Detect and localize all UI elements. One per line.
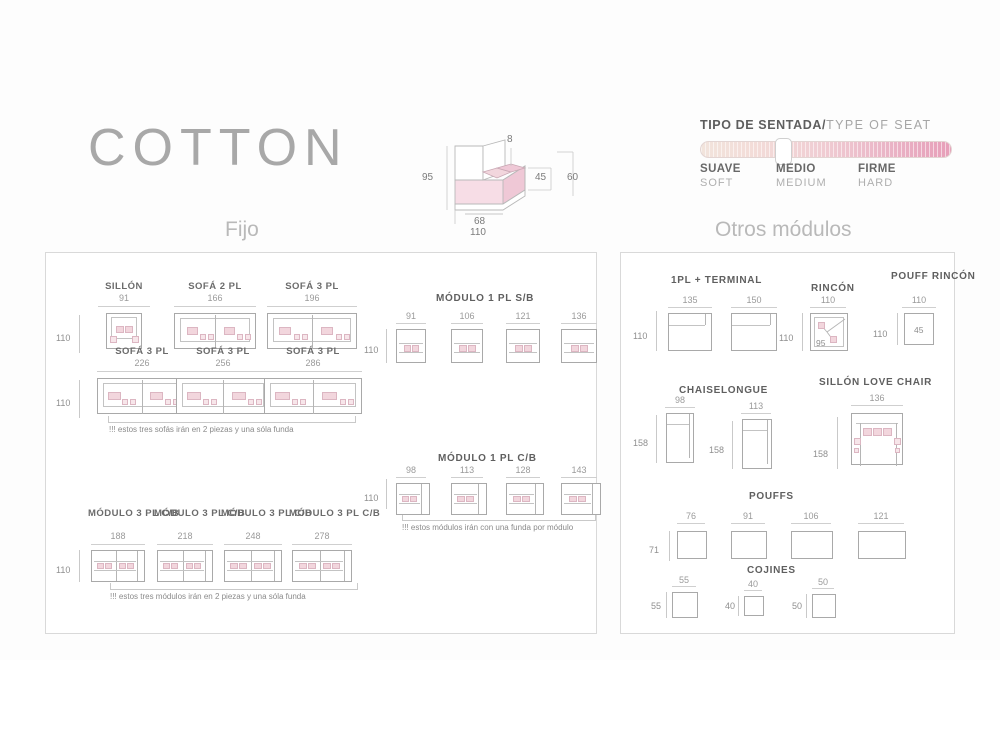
pouff-rincon-inner-dim: 45: [914, 325, 923, 335]
corner-cushion: [818, 322, 825, 329]
modulo3pl-brace: [110, 583, 358, 590]
seat-line: [399, 352, 423, 353]
back-cushion: [224, 327, 235, 335]
arm-pillow: [894, 438, 901, 445]
back-cushion: [332, 563, 340, 569]
pouffs-depth-label: 71: [649, 545, 659, 555]
back-cushion: [194, 563, 201, 569]
back-cushion: [468, 345, 476, 352]
back-cushion: [402, 496, 409, 502]
back-cushion: [171, 563, 178, 569]
seat-line: [454, 503, 477, 504]
row2-brace: [108, 416, 356, 423]
item-label: SILLÓN: [94, 281, 154, 292]
width-line: [98, 306, 150, 307]
width-line: [858, 523, 904, 524]
item-width: 166: [171, 293, 259, 303]
plan-view: [858, 531, 906, 559]
seat-divider: [142, 380, 143, 414]
back-divider: [137, 551, 138, 581]
page-title: COTTON: [88, 118, 349, 178]
back-divider: [421, 484, 422, 514]
pouff-rincon-depth-label: 110: [873, 329, 887, 339]
arm-pillow: [854, 438, 861, 445]
width-line: [224, 544, 282, 545]
perspective-drawing: 95 8 45 60 68 110: [425, 128, 585, 233]
item-label: MÓDULO 3 PL C/B: [154, 508, 216, 519]
arm-pillow: [237, 334, 243, 340]
item-width: 113: [739, 401, 773, 411]
arm-pillow: [211, 399, 217, 405]
arm-pillow: [344, 334, 350, 340]
plan-view: [672, 592, 698, 618]
modulo-1pl-sb-title: MÓDULO 1 PL S/B: [436, 293, 534, 304]
item-label: SOFÁ 3 PL: [173, 346, 273, 357]
plan-view: [668, 313, 712, 351]
back-cushion: [299, 563, 307, 569]
plan-view: [176, 378, 270, 414]
back-cushion: [457, 496, 465, 502]
width-line: [812, 588, 834, 589]
back-cushion: [466, 496, 474, 502]
modulo-cb-brace: [402, 515, 596, 521]
width-line: [672, 586, 696, 587]
row1-depth-line: [79, 315, 80, 353]
item-width: 106: [449, 311, 485, 321]
pouffs-depth-line: [669, 531, 670, 561]
width-line: [677, 523, 705, 524]
arm-divider: [767, 420, 768, 464]
back-cushion: [125, 326, 133, 333]
rincon-depth-label: 110: [779, 333, 793, 343]
seat-line: [227, 570, 273, 571]
width-line: [731, 307, 777, 308]
plan-view: [224, 550, 282, 582]
love-chair-title: SILLÓN LOVE CHAIR: [819, 377, 932, 388]
seat-type-heading-es: TIPO DE SENTADA: [700, 118, 822, 132]
seat-line: [564, 494, 591, 495]
seat-type-heading-en: TYPE OF SEAT: [826, 118, 931, 132]
modulo-1pl-cb-title: MÓDULO 1 PL C/B: [438, 453, 537, 464]
back-divider: [535, 484, 536, 514]
arm-pillow: [302, 334, 308, 340]
plan-view: [677, 531, 707, 559]
back-cushion: [116, 326, 124, 333]
dim-height-95: 95: [422, 172, 433, 183]
arm-pillow: [122, 399, 128, 405]
plan-view: [264, 378, 362, 414]
item-label: SOFÁ 3 PL: [261, 346, 365, 357]
plan-view: [742, 419, 772, 469]
item-width: 98: [394, 465, 428, 475]
plan-view: 95: [810, 313, 848, 351]
back-divider: [478, 484, 479, 514]
arm-divider: [770, 314, 771, 325]
back-cushion: [254, 563, 262, 569]
back-cushion: [321, 327, 333, 335]
width-line: [451, 477, 483, 478]
plan-view: [851, 413, 903, 465]
width-line: [668, 307, 712, 308]
firmness-scale-labels: SUAVE SOFT MEDIO MEDIUM FIRME HARD: [700, 163, 952, 197]
arm-pillow: [336, 334, 342, 340]
modulo-sb-depth-line: [386, 329, 387, 363]
seat-divider: [312, 315, 313, 349]
seat-divider: [223, 380, 224, 414]
seat-type-heading: TIPO DE SENTADA/TYPE OF SEAT: [700, 118, 952, 132]
item-width: 110: [806, 295, 850, 305]
width-line: [851, 405, 903, 406]
back-cushion: [186, 563, 193, 569]
love-chair-depth-label: 158: [813, 449, 828, 459]
seat-line: [399, 494, 420, 495]
depth-line: [666, 592, 667, 618]
width-line: [506, 477, 540, 478]
seat-divider: [183, 551, 184, 581]
plan-view: [506, 329, 540, 363]
row2-depth-line: [79, 380, 80, 418]
item-width: 121: [856, 511, 906, 521]
row2-note: !!! estos tres sofás irán en 2 piezas y …: [109, 425, 294, 434]
item-width: 136: [559, 311, 599, 321]
seat-divider: [215, 315, 216, 349]
item-width: 278: [289, 531, 355, 541]
chaise-depth-line-98: [656, 415, 657, 463]
seat-line: [295, 561, 343, 562]
depth-line: [738, 596, 739, 616]
item-width: 76: [675, 511, 707, 521]
item-width: 91: [394, 311, 428, 321]
width-line: [561, 477, 597, 478]
seat-line: [454, 343, 480, 344]
item-width: 98: [663, 395, 697, 405]
plan-view: [157, 550, 213, 582]
plan-view: [267, 313, 357, 349]
width-line: [267, 306, 357, 307]
arm-pillow: [208, 334, 214, 340]
modulo3pl-depth-line: [79, 550, 80, 582]
back-cushion: [105, 563, 112, 569]
row2-depth-label: 110: [56, 398, 70, 408]
spec-sheet: COTTON 95 8: [0, 0, 1000, 660]
plan-view: [91, 550, 145, 582]
corner-cushion: [830, 336, 837, 343]
arm-pillow: [294, 334, 300, 340]
item-width: 136: [849, 393, 905, 403]
back-divider: [592, 484, 593, 514]
firmness-slider-handle[interactable]: [775, 138, 792, 165]
back-cushion: [127, 563, 134, 569]
firmness-level-soft: SUAVE SOFT: [700, 163, 741, 189]
width-line: [176, 371, 270, 372]
item-depth: 50: [792, 601, 802, 611]
item-width: 113: [449, 465, 485, 475]
seat-line: [564, 343, 594, 344]
back-cushion: [873, 428, 882, 436]
back-divider: [205, 551, 206, 581]
medium-label-es: MEDIO: [776, 163, 827, 175]
back-line: [743, 430, 767, 431]
arm-pillow: [256, 399, 262, 405]
dim-back-8: 8: [507, 134, 513, 145]
seat-line: [94, 570, 136, 571]
plan-view: [174, 313, 256, 349]
medium-label-en: MEDIUM: [776, 177, 827, 189]
seat-divider: [313, 380, 314, 414]
back-cushion: [522, 496, 530, 502]
arm-pillow: [245, 334, 251, 340]
width-line: [665, 407, 695, 408]
back-cushion: [263, 563, 271, 569]
arm-pillow: [200, 334, 206, 340]
seat-line: [509, 352, 537, 353]
arm-pillow: [292, 399, 298, 405]
firmness-level-hard: FIRME HARD: [858, 163, 896, 189]
back-cushion: [863, 428, 872, 436]
width-line: [97, 371, 187, 372]
seat-divider: [320, 551, 321, 581]
plan-view: [451, 483, 487, 515]
item-width: 121: [504, 311, 542, 321]
firmness-level-medium: MEDIO MEDIUM: [776, 163, 827, 189]
modulo3pl-note: !!! estos tres módulos irán en 2 piezas …: [110, 592, 306, 601]
cojines-title: COJINES: [747, 565, 796, 576]
section-title-otros-modulos: Otros módulos: [715, 218, 852, 242]
back-cushion: [119, 563, 126, 569]
back-cushion: [322, 392, 337, 400]
seat-line: [295, 570, 343, 571]
back-cushion: [883, 428, 892, 436]
modulo-sb-depth-label: 110: [364, 345, 378, 355]
back-cushion: [97, 563, 104, 569]
plan-view: [731, 531, 767, 559]
arm-divider: [705, 314, 706, 325]
back-cushion: [571, 345, 579, 352]
item-label: MÓDULO 3 PL C/B: [221, 508, 285, 519]
pouff-rincon-depth-line: [897, 313, 898, 345]
back-cushion: [412, 345, 419, 352]
section-title-fijo: Fijo: [225, 218, 259, 242]
arm-pillow: [165, 399, 171, 405]
arm-pillow: [348, 399, 354, 405]
width-line: [810, 307, 846, 308]
width-line: [791, 523, 831, 524]
seat-type-indicator: TIPO DE SENTADA/TYPE OF SEAT SUAVE SOFT …: [700, 118, 952, 197]
back-cushion: [163, 563, 170, 569]
item-depth: 55: [651, 601, 661, 611]
back-cushion: [308, 563, 316, 569]
width-line: [731, 523, 765, 524]
width-line: [396, 323, 426, 324]
modulo3pl-depth-label: 110: [56, 565, 70, 575]
back-cushion: [230, 563, 238, 569]
item-width: 91: [729, 511, 767, 521]
back-cushion: [275, 392, 290, 400]
back-cushion: [410, 496, 417, 502]
plan-view: [396, 329, 426, 363]
width-line: [506, 323, 540, 324]
item-width: 196: [264, 293, 360, 303]
item-width: 110: [898, 295, 940, 305]
arm-pillow: [248, 399, 254, 405]
back-cushion: [459, 345, 467, 352]
panel-fijo: 110 SILLÓN 91 SOFÁ 2 PL 166: [45, 252, 597, 634]
item-label: MÓDULO 3 PL C/B: [88, 508, 148, 519]
item-width: 91: [94, 293, 154, 303]
soft-label-en: SOFT: [700, 177, 741, 189]
width-line: [396, 477, 426, 478]
item-width: 135: [666, 295, 714, 305]
width-line: [744, 590, 762, 591]
row1-depth-label: 110: [56, 333, 70, 343]
item-width: 248: [221, 531, 285, 541]
soft-label-es: SUAVE: [700, 163, 741, 175]
back-cushion: [323, 563, 331, 569]
back-cushion: [404, 345, 411, 352]
item-width: 143: [559, 465, 599, 475]
firmness-slider-track[interactable]: [700, 141, 952, 158]
seat-line: [509, 503, 534, 504]
modulo-cb-note: !!! estos módulos irán con una funda por…: [402, 523, 573, 532]
item-width: 286: [261, 358, 365, 368]
seat-divider: [116, 551, 117, 581]
seat-line: [160, 570, 204, 571]
seat-line: [509, 494, 534, 495]
back-line: [856, 423, 898, 424]
pouff-rincon-title: POUFF RINCÓN: [891, 271, 951, 282]
plan-view: 45: [904, 313, 934, 345]
seat-line: [227, 561, 273, 562]
seat-line: [94, 561, 136, 562]
chaise-depth-line-113: [732, 421, 733, 469]
arm-pillow: [110, 336, 117, 343]
seat-divider: [251, 551, 252, 581]
item-width: 55: [669, 575, 699, 585]
back-cushion: [187, 392, 201, 400]
plan-view: [506, 483, 544, 515]
width-line: [561, 323, 597, 324]
arm-pillow: [130, 399, 136, 405]
seat-line: [454, 352, 480, 353]
width-line: [292, 544, 352, 545]
width-line: [902, 307, 936, 308]
hard-label-es: FIRME: [858, 163, 896, 175]
back-cushion: [239, 563, 247, 569]
terminal-depth-line: [656, 311, 657, 351]
terminal-depth-label: 110: [633, 331, 647, 341]
item-depth: 40: [725, 601, 735, 611]
pouffs-title: POUFFS: [749, 491, 794, 502]
item-width: 188: [88, 531, 148, 541]
dim-depth-60: 60: [567, 172, 578, 183]
back-divider: [344, 551, 345, 581]
back-cushion: [569, 496, 577, 502]
item-width: 40: [741, 579, 765, 589]
back-cushion: [578, 496, 586, 502]
plan-view: [396, 483, 430, 515]
hard-label-en: HARD: [858, 177, 896, 189]
plan-view: [791, 531, 833, 559]
width-line: [157, 544, 213, 545]
seat-line: [509, 343, 537, 344]
modulo-cb-depth-line: [386, 479, 387, 509]
item-width: 218: [154, 531, 216, 541]
item-width: 256: [173, 358, 273, 368]
dim-depth-110: 110: [470, 227, 486, 238]
terminal-title: 1PL + TERMINAL: [671, 275, 762, 286]
seat-line: [399, 343, 423, 344]
plan-view: [666, 413, 694, 463]
arm-pillow: [132, 336, 139, 343]
width-line: [451, 323, 483, 324]
chaise-depth-label-113: 158: [709, 445, 724, 455]
chaise-depth-label-98: 158: [633, 438, 648, 448]
width-line: [91, 544, 145, 545]
width-line: [264, 371, 362, 372]
item-label: SOFÁ 3 PL: [264, 281, 360, 292]
item-label: MÓDULO 3 PL C/B: [289, 508, 355, 519]
dim-seat-45: 45: [535, 172, 546, 183]
arm-divider: [689, 414, 690, 458]
plan-view: [451, 329, 483, 363]
pouff-rincon-title-text: POUFF RINCÓN: [891, 271, 976, 282]
width-line: [741, 413, 771, 414]
width-line: [174, 306, 256, 307]
plan-view: [731, 313, 777, 351]
back-cushion: [515, 345, 523, 352]
back-line: [732, 325, 770, 326]
item-width: 50: [809, 577, 837, 587]
plan-view: [561, 483, 601, 515]
love-chair-depth-line: [837, 417, 838, 469]
back-divider: [274, 551, 275, 581]
back-line: [669, 325, 705, 326]
plan-view: [106, 313, 142, 349]
seat-line: [454, 494, 477, 495]
back-cushion: [150, 392, 163, 400]
depth-line: [806, 594, 807, 618]
arm-pillow: [854, 448, 859, 453]
arm-pillow: [203, 399, 209, 405]
back-cushion: [232, 392, 246, 400]
back-cushion: [524, 345, 532, 352]
back-cushion: [580, 345, 588, 352]
arm-pillow: [300, 399, 306, 405]
plan-view: [97, 378, 187, 414]
plan-view: [561, 329, 597, 363]
seat-line: [564, 352, 594, 353]
plan-view: [812, 594, 836, 618]
arm-pillow: [895, 448, 900, 453]
back-cushion: [513, 496, 521, 502]
item-label: SOFÁ 2 PL: [171, 281, 259, 292]
plan-view: [744, 596, 764, 616]
rincon-depth-line: [802, 313, 803, 351]
arm-pillow: [340, 399, 346, 405]
item-width: 150: [729, 295, 779, 305]
item-width: 106: [789, 511, 833, 521]
rincon-title: RINCÓN: [811, 283, 855, 294]
item-width: 128: [504, 465, 542, 475]
rincon-inner-dim: 95: [816, 338, 825, 348]
seat-line: [160, 561, 204, 562]
back-cushion: [108, 392, 121, 400]
back-cushion: [187, 327, 198, 335]
seat-line: [399, 503, 420, 504]
seat-line: [564, 503, 591, 504]
panel-otros-modulos: 1PL + TERMINAL 110 135 150 RINCÓN 110: [620, 252, 955, 634]
back-line: [667, 424, 689, 425]
